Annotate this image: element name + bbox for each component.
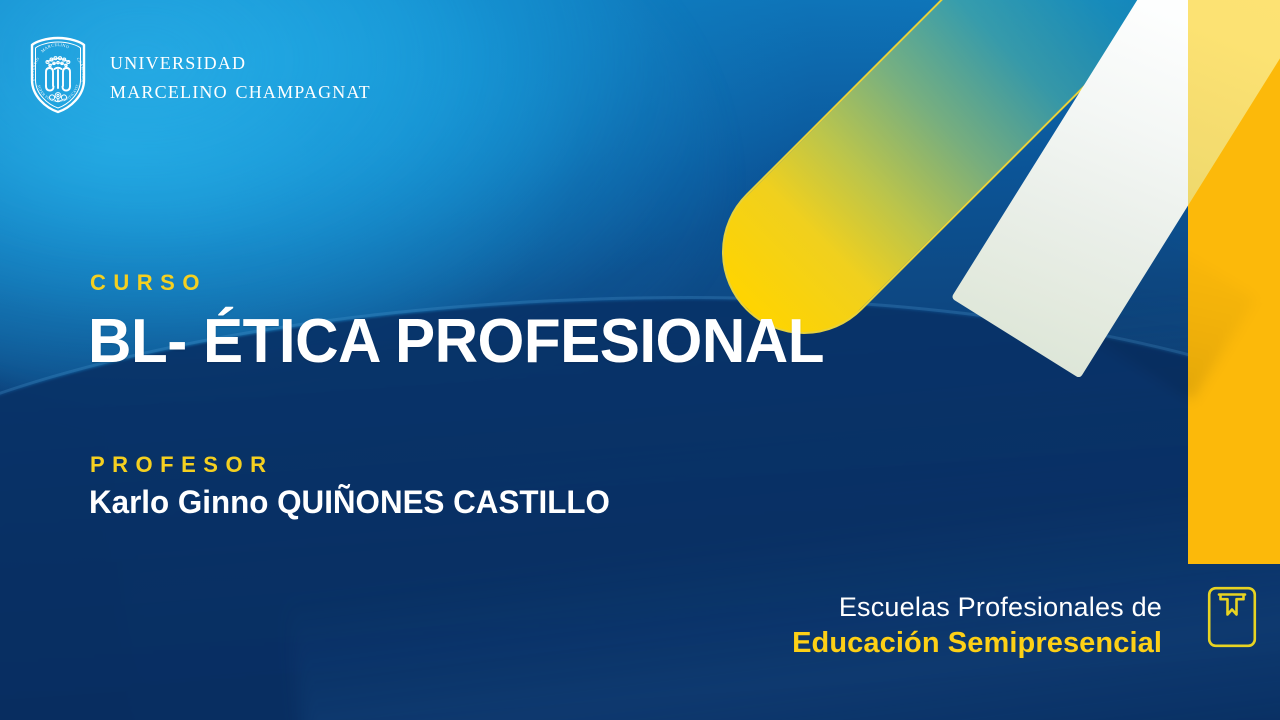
course-eyebrow-label: CURSO (90, 270, 207, 296)
program-line-2: Educación Semipresencial (792, 626, 1162, 660)
professor-eyebrow-label: PROFESOR (90, 452, 273, 478)
professor-name: Karlo Ginno QUIÑONES CASTILLO (89, 484, 610, 521)
course-title: BL- ÉTICA PROFESIONAL (88, 306, 824, 377)
university-logo: MARCELINO UNIVERSIDAD CHAMPAGNAT SUPER P… (24, 36, 371, 114)
white-pill-yellow-tint-decor (1188, 0, 1280, 564)
book-bookmark-icon (1207, 586, 1257, 648)
university-crest-icon: MARCELINO UNIVERSIDAD CHAMPAGNAT SUPER P… (24, 36, 92, 114)
university-name: Universidad Marcelino Champagnat (110, 46, 371, 104)
program-line-1: Escuelas Profesionales de (792, 592, 1162, 624)
university-name-line2: Marcelino Champagnat (110, 75, 371, 104)
program-block: Escuelas Profesionales de Educación Semi… (792, 592, 1162, 660)
slide-canvas: MARCELINO UNIVERSIDAD CHAMPAGNAT SUPER P… (0, 0, 1280, 720)
university-name-line1: Universidad (110, 46, 371, 75)
